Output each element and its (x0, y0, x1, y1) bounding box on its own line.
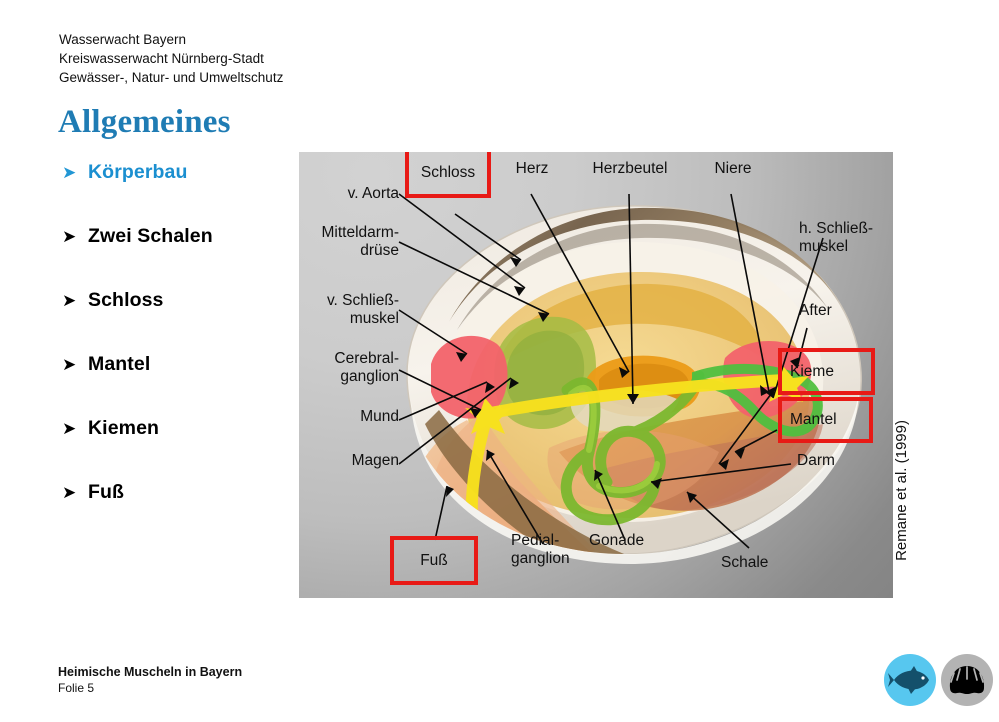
topic-list: ➤ Körperbau ➤ Zwei Schalen ➤ Schloss ➤ M… (62, 162, 297, 546)
shell-logo (941, 654, 993, 706)
list-item-schloss[interactable]: ➤ Schloss (62, 290, 297, 354)
figure-label-v-aorta: v. Aorta (305, 185, 399, 203)
list-item-label: Schloss (88, 290, 163, 311)
highlight-box-fuss[interactable]: Fuß (390, 536, 478, 585)
highlight-box-mantel[interactable]: Mantel (778, 397, 873, 443)
figure-label-cerebralganglion: Cerebral- ganglion (299, 350, 399, 386)
figure-label-herz: Herz (497, 160, 567, 178)
highlight-label-schloss: Schloss (409, 164, 487, 182)
footer-title: Heimische Muscheln in Bayern (58, 665, 242, 679)
figure-label-niere: Niere (697, 160, 769, 178)
figure-label-mitteldarmdruese: Mitteldarm- drüse (299, 224, 399, 260)
arrow-bullet-icon: ➤ (62, 162, 88, 184)
list-item-fuss[interactable]: ➤ Fuß (62, 482, 297, 546)
highlight-box-schloss[interactable]: Schloss (405, 152, 491, 198)
list-item-label: Mantel (88, 354, 150, 375)
highlight-label-kieme: Kieme (782, 363, 871, 381)
slide: Wasserwacht Bayern Kreiswasserwacht Nürn… (0, 0, 999, 722)
arrow-bullet-icon: ➤ (62, 418, 88, 440)
list-item-label: Fuß (88, 482, 124, 503)
highlight-label-mantel: Mantel (782, 411, 869, 429)
mussel-anatomy-figure: v. Aorta Mitteldarm- drüse v. Schließ- m… (299, 152, 893, 598)
figure-label-magen: Magen (317, 452, 399, 470)
arrow-bullet-icon: ➤ (62, 482, 88, 504)
list-item-koerperbau[interactable]: ➤ Körperbau (62, 162, 297, 226)
list-item-mantel[interactable]: ➤ Mantel (62, 354, 297, 418)
fish-icon (884, 654, 936, 706)
figure-label-h-schliessmuskel: h. Schließ- muskel (799, 220, 891, 256)
figure-label-v-schliessmuskel: v. Schließ- muskel (299, 292, 399, 328)
highlight-label-fuss: Fuß (394, 552, 474, 570)
figure-citation: Remane et al. (1999) (893, 420, 910, 561)
footer-slide-number: Folie 5 (58, 681, 94, 695)
arrow-bullet-icon: ➤ (62, 354, 88, 376)
figure-label-darm: Darm (797, 452, 877, 470)
figure-label-mund: Mund (321, 408, 399, 426)
figure-label-herzbeutel: Herzbeutel (571, 160, 689, 178)
arrow-bullet-icon: ➤ (62, 290, 88, 312)
fish-logo (884, 654, 936, 706)
figure-label-after: After (799, 302, 879, 320)
list-item-label: Zwei Schalen (88, 226, 213, 247)
list-item-kiemen[interactable]: ➤ Kiemen (62, 418, 297, 482)
figure-label-pedialganglion: Pedial- ganglion (511, 532, 593, 568)
list-item-label: Körperbau (88, 162, 188, 183)
organization-header: Wasserwacht Bayern Kreiswasserwacht Nürn… (59, 30, 283, 87)
list-item-zwei-schalen[interactable]: ➤ Zwei Schalen (62, 226, 297, 290)
page-title: Allgemeines (58, 104, 231, 141)
arrow-bullet-icon: ➤ (62, 226, 88, 248)
figure-label-schale: Schale (721, 554, 811, 572)
list-item-label: Kiemen (88, 418, 159, 439)
figure-label-gonade: Gonade (589, 532, 685, 550)
highlight-box-kieme[interactable]: Kieme (778, 348, 875, 395)
shell-icon (941, 654, 993, 706)
